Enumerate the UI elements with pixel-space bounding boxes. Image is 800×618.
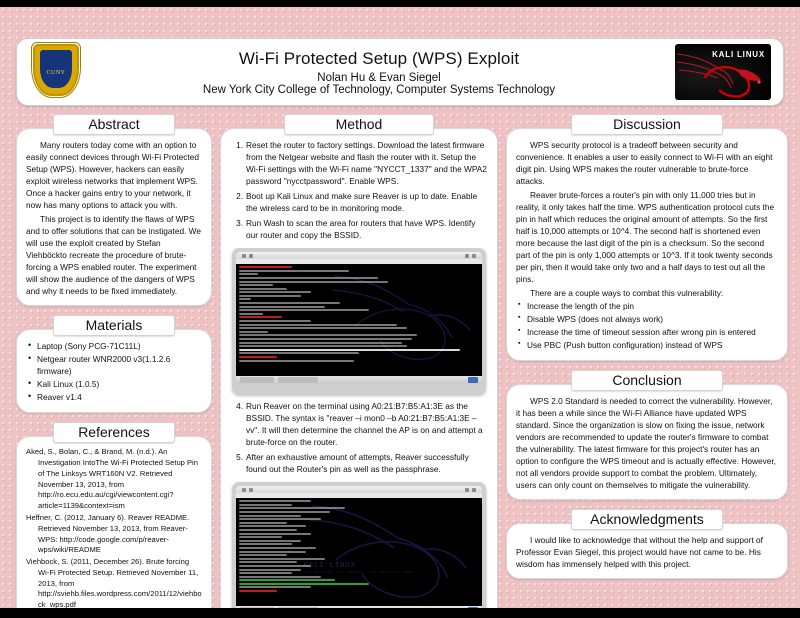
wash-scan-terminal-screenshot xyxy=(232,248,486,394)
kali-logo-text: KALI LINUX xyxy=(712,50,765,59)
section-title-abstract: Abstract xyxy=(53,114,175,135)
section-body-acknowledgments: I would like to acknowledge that without… xyxy=(506,523,788,579)
terminal-screen: KALI LINUXthe quieter you become, the mo… xyxy=(236,498,482,606)
list-item: Run Wash to scan the area for routers th… xyxy=(230,217,488,241)
discussion-paragraph: Reaver brute-forces a router's pin with … xyxy=(516,189,778,285)
section-body-method: Reset the router to factory settings. Do… xyxy=(220,128,498,618)
list-item: Kali Linux (1.0.5) xyxy=(26,378,202,390)
section-title-acknowledgments: Acknowledgments xyxy=(571,509,723,530)
list-item: Reset the router to factory settings. Do… xyxy=(230,139,488,187)
reaver-result-terminal-screenshot: KALI LINUXthe quieter you become, the mo… xyxy=(232,482,486,618)
section-body-materials: Laptop (Sony PCG-71C11L) Netgear router … xyxy=(16,329,212,413)
letterbox-bottom xyxy=(0,608,800,618)
section-materials: Materials Laptop (Sony PCG-71C11L) Netge… xyxy=(16,315,212,413)
list-item: Reaver v1.4 xyxy=(26,391,202,403)
conference-poster: CUNY Wi-Fi Protected Setup (WPS) Exploit… xyxy=(0,0,800,618)
list-item: Increase the time of timeout session aft… xyxy=(516,326,778,338)
section-references: References Aked, S., Bolan, C., & Brand,… xyxy=(16,422,212,618)
abstract-paragraph: Many routers today come with an option t… xyxy=(26,139,202,211)
section-title-method: Method xyxy=(284,114,434,135)
section-body-discussion: WPS security protocol is a tradeoff betw… xyxy=(506,128,788,361)
discussion-paragraph: There are a couple ways to combat this v… xyxy=(516,287,778,299)
method-steps-bottom: Run Reaver on the terminal using A0:21:B… xyxy=(230,400,488,475)
section-body-abstract: Many routers today come with an option t… xyxy=(16,128,212,306)
list-item: Laptop (Sony PCG-71C11L) xyxy=(26,340,202,352)
method-steps-top: Reset the router to factory settings. Do… xyxy=(230,139,488,241)
poster-columns: Abstract Many routers today come with an… xyxy=(6,114,794,618)
terminal-taskbar xyxy=(236,376,482,384)
seal-cuny-text: CUNY xyxy=(43,70,69,76)
section-title-materials: Materials xyxy=(53,315,175,336)
column-right: Discussion WPS security protocol is a tr… xyxy=(506,114,788,618)
list-item: After an exhaustive amount of attempts, … xyxy=(230,451,488,475)
list-item: Increase the length of the pin xyxy=(516,300,778,312)
section-discussion: Discussion WPS security protocol is a tr… xyxy=(506,114,788,361)
city-tech-seal-logo: CUNY xyxy=(29,42,83,102)
header-text-block: Wi-Fi Protected Setup (WPS) Exploit Nola… xyxy=(83,48,675,95)
terminal-titlebar xyxy=(236,252,482,259)
section-title-references: References xyxy=(53,422,175,443)
kali-linux-logo: KALI LINUX xyxy=(675,44,771,100)
reference-entry: Aked, S., Bolan, C., & Brand, M. (n.d.).… xyxy=(26,447,202,512)
section-conclusion: Conclusion WPS 2.0 Standard is needed to… xyxy=(506,370,788,500)
discussion-paragraph: WPS security protocol is a tradeoff betw… xyxy=(516,139,778,187)
column-middle: Method Reset the router to factory setti… xyxy=(220,114,498,618)
terminal-screen xyxy=(236,264,482,376)
terminal-output-lines xyxy=(239,500,479,593)
terminal-titlebar xyxy=(236,486,482,493)
poster-affiliation: New York City College of Technology, Com… xyxy=(87,84,671,96)
section-body-conclusion: WPS 2.0 Standard is needed to correct th… xyxy=(506,384,788,500)
section-method: Method Reset the router to factory setti… xyxy=(220,114,498,618)
poster-header: CUNY Wi-Fi Protected Setup (WPS) Exploit… xyxy=(16,38,784,106)
conclusion-paragraph: WPS 2.0 Standard is needed to correct th… xyxy=(516,395,778,491)
abstract-paragraph: This project is to identify the flaws of… xyxy=(26,213,202,297)
section-acknowledgments: Acknowledgments I would like to acknowle… xyxy=(506,509,788,579)
list-item: Use PBC (Push button configuration) inst… xyxy=(516,339,778,351)
discussion-bullet-list: Increase the length of the pin Disable W… xyxy=(516,300,778,351)
acknowledgments-paragraph: I would like to acknowledge that without… xyxy=(516,534,778,570)
letterbox-top xyxy=(0,0,800,7)
column-left: Abstract Many routers today come with an… xyxy=(16,114,212,618)
page-title: Wi-Fi Protected Setup (WPS) Exploit xyxy=(87,48,671,69)
section-body-references: Aked, S., Bolan, C., & Brand, M. (n.d.).… xyxy=(16,436,212,618)
list-item: Boot up Kali Linux and make sure Reaver … xyxy=(230,190,488,214)
section-abstract: Abstract Many routers today come with an… xyxy=(16,114,212,306)
section-title-discussion: Discussion xyxy=(571,114,723,135)
list-item: Disable WPS (does not always work) xyxy=(516,313,778,325)
reference-entry: Heffner, C. (2012, January 6). Reaver RE… xyxy=(26,513,202,556)
section-title-conclusion: Conclusion xyxy=(571,370,723,391)
materials-list: Laptop (Sony PCG-71C11L) Netgear router … xyxy=(26,340,202,403)
reference-entry: Viehbock, S. (2011, December 26). Brute … xyxy=(26,557,202,611)
list-item: Netgear router WNR2000 v3(1.1.2.6 firmwa… xyxy=(26,353,202,377)
poster-authors: Nolan Hu & Evan Siegel xyxy=(87,72,671,84)
terminal-output-lines xyxy=(239,266,479,363)
list-item: Run Reaver on the terminal using A0:21:B… xyxy=(230,400,488,448)
